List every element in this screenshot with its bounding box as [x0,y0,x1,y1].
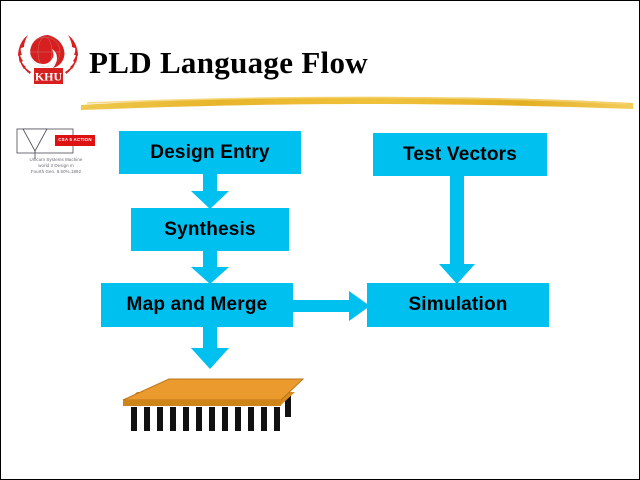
flow-box-synthesis[interactable]: Synthesis [131,208,289,251]
vendor-logo: CSA 5 ACTION Unicom Systems Machine worl… [13,123,99,181]
arrow-design-entry-to-synthesis [189,173,231,210]
flow-box-test-vectors[interactable]: Test Vectors [373,133,547,176]
vendor-logo-badge-text: CSA 5 ACTION [57,136,93,146]
arrow-map-and-merge-to-simulation [291,291,371,321]
flow-box-map-and-merge[interactable]: Map and Merge [101,283,293,327]
pld-chip-top [123,379,303,400]
flow-box-simulation[interactable]: Simulation [367,283,549,327]
vendor-logo-badge: CSA 5 ACTION [55,135,95,146]
arrow-map-and-merge-to-device [189,326,231,370]
arrow-synthesis-to-map-and-merge [189,250,231,285]
khu-university-logo: KHU [15,29,81,85]
vendor-logo-caption: Unicom Systems Machine world 3 Design m … [13,157,99,175]
khu-logo-text: KHU [35,70,63,84]
arrow-test-vectors-to-simulation [437,175,477,285]
slide-canvas: KHU PLD Language Flow [0,0,640,480]
pld-chip-graphic [119,367,307,435]
title-underline-brushstroke [79,91,635,111]
page-title: PLD Language Flow [89,45,368,81]
vendor-logo-caption-line-3: Fourth Gen. 8.50%.1892 [13,169,99,175]
flow-box-design-entry[interactable]: Design Entry [119,131,301,174]
